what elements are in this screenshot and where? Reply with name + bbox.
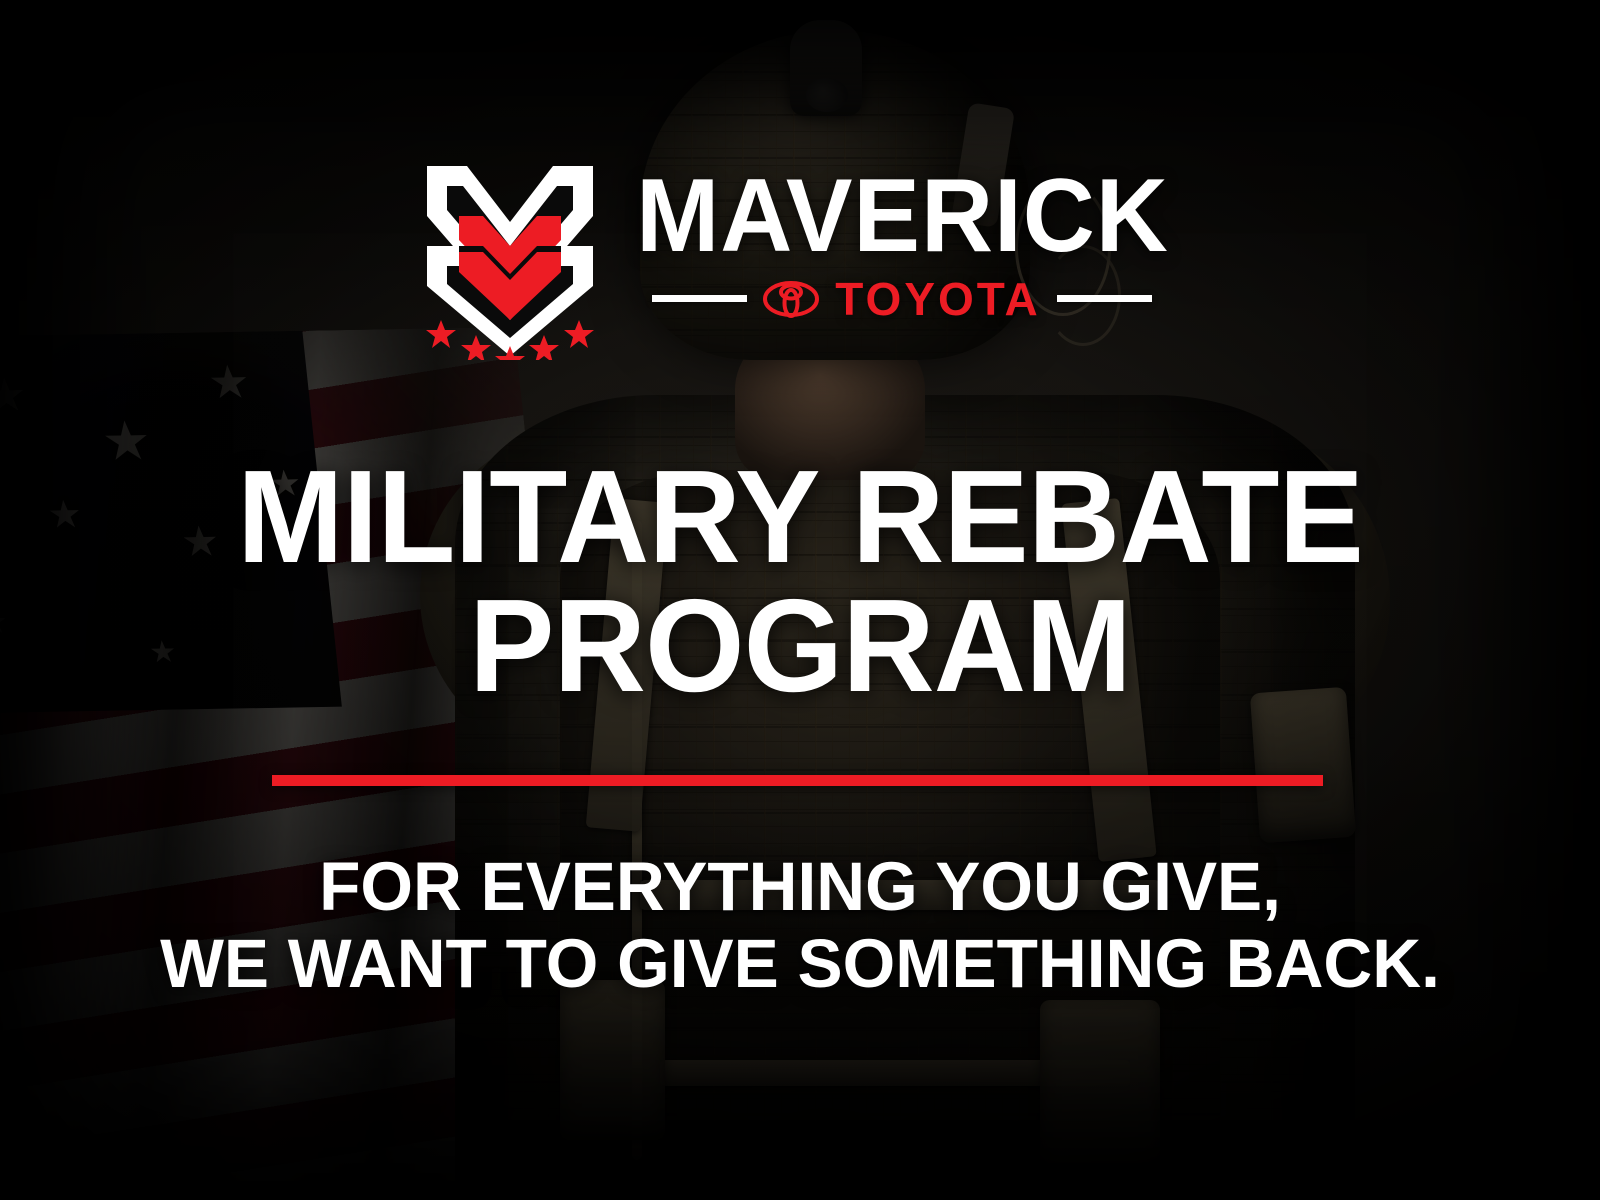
brand-name: MAVERICK [636, 168, 1169, 266]
tagline-line-1: FOR EVERYTHING YOU GIVE, [319, 848, 1281, 925]
lockup-rule-right [1057, 295, 1152, 302]
tagline-line-2: WE WANT TO GIVE SOMETHING BACK. [16, 925, 1584, 1002]
toyota-three-ellipse-emblem-icon [763, 279, 819, 319]
military-chevron-rank-badge-icon [421, 160, 599, 360]
brand-lockup: MAVERICK TOYOTA [0, 160, 1600, 360]
tagline: FOR EVERYTHING YOU GIVE, WE WANT TO GIVE… [16, 848, 1584, 1003]
red-accent-divider [272, 775, 1323, 786]
toyota-sub-brand-row: TOYOTA [625, 276, 1180, 322]
lockup-rule-left [652, 295, 747, 302]
brand-wordmark-block: MAVERICK TOYOTA [625, 160, 1180, 322]
toyota-wordmark: TOYOTA [835, 276, 1040, 322]
page-title: MILITARY REBATE PROGRAM [24, 452, 1576, 711]
promo-banner: ★ ★ ★ ★ ★ ★ ★ ★ [0, 0, 1600, 1200]
headline-line-1: MILITARY REBATE [237, 443, 1363, 590]
banner-content: MAVERICK TOYOTA MILITARY REBATE PROGRAM [0, 0, 1600, 1200]
headline-line-2: PROGRAM [24, 581, 1576, 710]
